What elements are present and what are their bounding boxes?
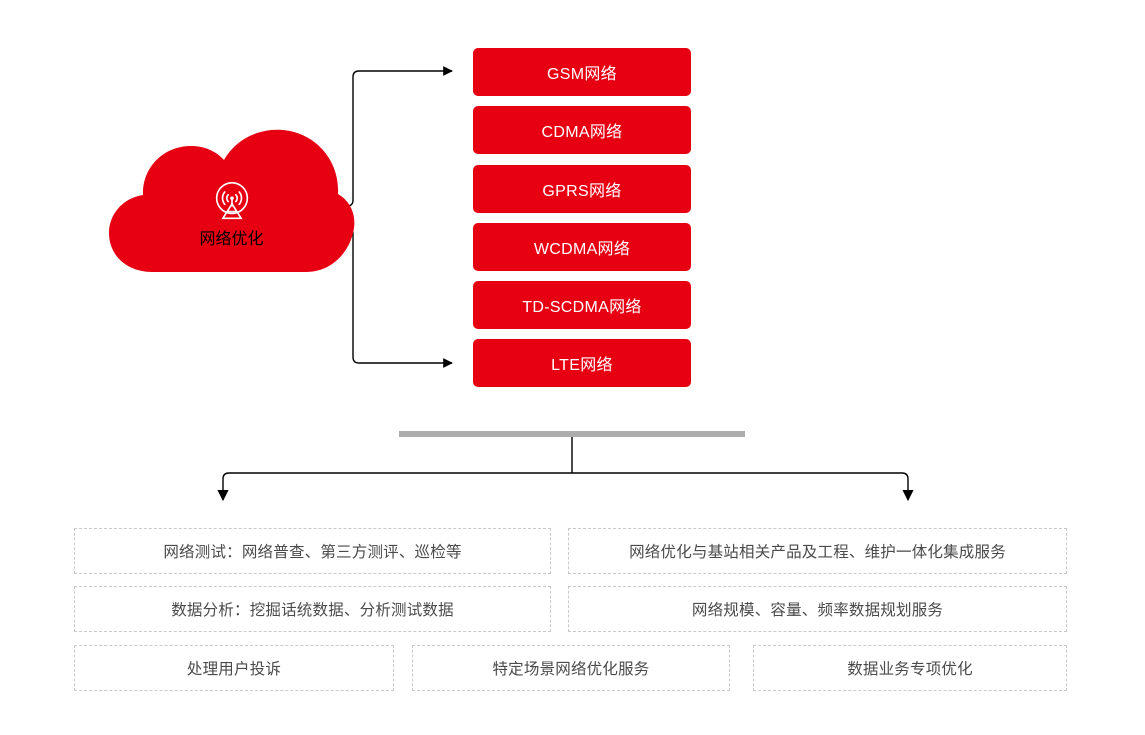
service-box-integration[interactable]: 网络优化与基站相关产品及工程、维护一体化集成服务 [568,528,1067,574]
service-box-data-service-optimization[interactable]: 数据业务专项优化 [753,645,1067,691]
connector-branch-right [572,473,908,500]
service-box-user-complaints[interactable]: 处理用户投诉 [74,645,394,691]
service-box-scenario-optimization[interactable]: 特定场景网络优化服务 [412,645,730,691]
network-box-gsm[interactable]: GSM网络 [473,48,691,96]
service-box-data-analysis[interactable]: 数据分析：挖掘话统数据、分析测试数据 [74,586,551,632]
cloud-node: 网络优化 [105,128,358,273]
radio-tower-signal-icon [209,179,255,225]
service-box-network-testing[interactable]: 网络测试：网络普查、第三方测评、巡检等 [74,528,551,574]
divider-bar [399,431,745,437]
network-box-wcdma[interactable]: WCDMA网络 [473,223,691,271]
service-box-planning[interactable]: 网络规模、容量、频率数据规划服务 [568,586,1067,632]
cloud-label: 网络优化 [199,225,263,249]
network-box-cdma[interactable]: CDMA网络 [473,106,691,154]
network-box-lte[interactable]: LTE网络 [473,339,691,387]
network-optimization-diagram: 网络优化 GSM网络 CDMA网络 GPRS网络 WCDMA网络 TD-SCDM… [0,0,1145,735]
connector-branch-left [223,473,572,500]
network-box-gprs[interactable]: GPRS网络 [473,165,691,213]
network-box-td-scdma[interactable]: TD-SCDMA网络 [473,281,691,329]
